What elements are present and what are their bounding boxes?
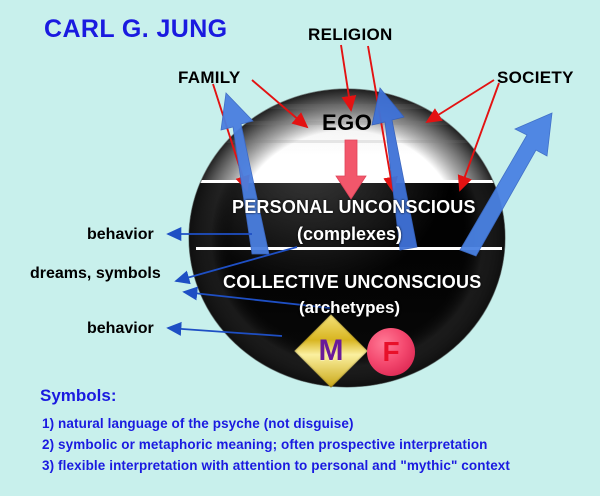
side-label-behavior-top: behavior bbox=[87, 226, 154, 244]
layer-label-personal-unconscious: PERSONAL UNCONSCIOUS bbox=[232, 197, 476, 218]
symbols-item-2: 2) symbolic or metaphoric meaning; often… bbox=[42, 437, 488, 452]
symbols-item-1: 1) natural language of the psyche (not d… bbox=[42, 416, 354, 431]
diagram-canvas: CARL G. JUNG FAMILY RELIGION SOCIETY EGO… bbox=[0, 0, 600, 496]
side-label-behavior-bottom: behavior bbox=[87, 320, 154, 338]
feminine-symbol-letter: F bbox=[367, 328, 415, 376]
masculine-symbol-letter: M bbox=[305, 325, 357, 377]
side-label-dreams-symbols: dreams, symbols bbox=[30, 265, 161, 283]
layer-sublabel-complexes: (complexes) bbox=[297, 224, 402, 245]
page-title: CARL G. JUNG bbox=[44, 15, 228, 44]
label-family: FAMILY bbox=[178, 68, 241, 88]
label-religion: RELIGION bbox=[308, 25, 393, 45]
layer-label-collective-unconscious: COLLECTIVE UNCONSCIOUS bbox=[223, 272, 481, 293]
symbols-item-3: 3) flexible interpretation with attentio… bbox=[42, 458, 510, 473]
layer-sublabel-archetypes: (archetypes) bbox=[299, 298, 400, 318]
symbols-heading: Symbols: bbox=[40, 386, 117, 406]
layer-label-ego: EGO bbox=[322, 110, 372, 136]
label-society: SOCIETY bbox=[497, 68, 574, 88]
